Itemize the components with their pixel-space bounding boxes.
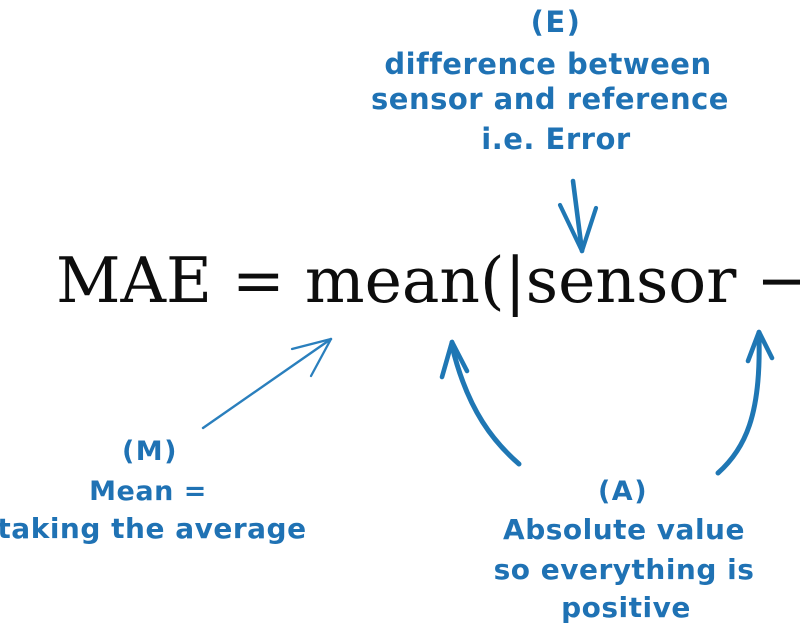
annotation-e-line-1: difference between [384,50,711,79]
annotation-m-line-1: Mean = [89,478,207,505]
arrow-a-to-left-bar-icon [442,342,519,464]
annotation-e-line-2: sensor and reference [371,85,729,114]
annotation-a-line-3: positive [561,594,691,622]
annotation-m-tag: (M) [122,438,178,465]
annotation-a-line-2: so everything is [494,556,755,584]
annotation-m-line-2: taking the average [0,515,307,543]
arrow-e-to-formula-icon [560,181,596,251]
arrow-m-to-mean-icon [203,339,331,428]
annotation-e-tag: (E) [531,8,582,37]
annotation-a-line-1: Absolute value [503,516,745,544]
annotation-a-tag: (A) [598,478,648,505]
annotation-e-line-3: i.e. Error [481,125,630,154]
mae-formula: MAE = mean(|sensor − ref|) [56,249,796,312]
arrow-a-to-right-bar-icon [718,332,772,473]
diagram-canvas: (E) difference between sensor and refere… [0,0,800,637]
